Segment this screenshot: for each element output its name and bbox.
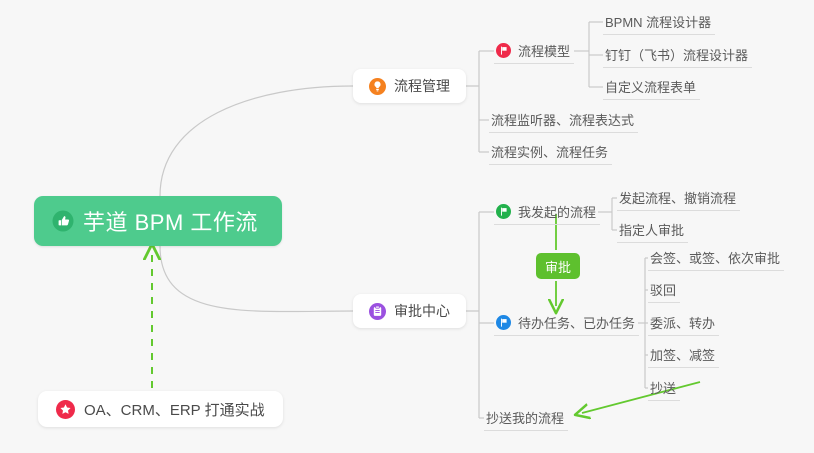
root-label: 芋道 BPM 工作流 (83, 205, 258, 237)
mindmap-canvas: 芋道 BPM 工作流 流程管理 审批中心 (0, 0, 814, 453)
node-label-countersign: 会签、或签、依次审批 (650, 248, 780, 267)
clipboard-icon (369, 303, 386, 320)
node-label-cc: 抄送 (650, 378, 676, 397)
node-custom-form[interactable]: 自定义流程表单 (603, 74, 700, 100)
node-process-model[interactable]: 流程模型 (494, 38, 574, 64)
node-label-add-remove-sign: 加签、减签 (650, 345, 715, 364)
node-label-process-model: 流程模型 (518, 41, 570, 60)
node-todo-done-task[interactable]: 待办任务、已办任务 (494, 310, 639, 336)
node-cc-my-process[interactable]: 抄送我的流程 (484, 405, 568, 431)
node-countersign[interactable]: 会签、或签、依次审批 (648, 245, 784, 271)
node-label-cc-my-process: 抄送我的流程 (486, 408, 564, 427)
thumbs-up-icon (52, 210, 74, 232)
link-root-to-approval-center (160, 246, 353, 312)
node-listener-expression[interactable]: 流程监听器、流程表达式 (489, 107, 638, 133)
star-icon (56, 400, 75, 419)
node-instance-task[interactable]: 流程实例、流程任务 (489, 139, 612, 165)
node-add-remove-sign[interactable]: 加签、减签 (648, 342, 719, 368)
flag-icon (496, 204, 511, 219)
node-dingtalk-designer[interactable]: 钉钉（飞书）流程设计器 (603, 42, 752, 68)
integration-note-label: OA、CRM、ERP 打通实战 (84, 399, 265, 420)
root-node[interactable]: 芋道 BPM 工作流 (34, 196, 282, 246)
node-label-bpmn-designer: BPMN 流程设计器 (605, 12, 711, 31)
flag-icon (496, 43, 511, 58)
branch-label-process-management: 流程管理 (394, 76, 450, 96)
node-label-instance-task: 流程实例、流程任务 (491, 142, 608, 161)
node-delegate-transfer[interactable]: 委派、转办 (648, 310, 719, 336)
node-label-delegate-transfer: 委派、转办 (650, 313, 715, 332)
node-label-custom-form: 自定义流程表单 (605, 77, 696, 96)
node-bpmn-designer[interactable]: BPMN 流程设计器 (603, 9, 715, 35)
approval-badge-label: 审批 (545, 257, 571, 276)
branch-node-approval-center[interactable]: 审批中心 (353, 294, 466, 328)
node-start-cancel[interactable]: 发起流程、撤销流程 (617, 185, 740, 211)
integration-note[interactable]: OA、CRM、ERP 打通实战 (38, 391, 283, 427)
lightbulb-icon (369, 78, 386, 95)
node-label-assignee-approval: 指定人审批 (619, 220, 684, 239)
branch-node-process-management[interactable]: 流程管理 (353, 69, 466, 103)
node-cc[interactable]: 抄送 (648, 375, 680, 401)
branch-label-approval-center: 审批中心 (394, 301, 450, 321)
flag-icon (496, 315, 511, 330)
node-assignee-approval[interactable]: 指定人审批 (617, 217, 688, 243)
approval-badge[interactable]: 审批 (536, 253, 580, 279)
node-label-reject: 驳回 (650, 280, 676, 299)
node-label-listener-expression: 流程监听器、流程表达式 (491, 110, 634, 129)
link-root-to-process-management (160, 86, 353, 196)
arrow-cc-to-cc-my-process (582, 382, 700, 413)
node-label-dingtalk-designer: 钉钉（飞书）流程设计器 (605, 45, 748, 64)
node-label-start-cancel: 发起流程、撤销流程 (619, 188, 736, 207)
node-my-started-process[interactable]: 我发起的流程 (494, 199, 600, 225)
node-label-todo-done-task: 待办任务、已办任务 (518, 313, 635, 332)
node-label-my-started-process: 我发起的流程 (518, 202, 596, 221)
node-reject[interactable]: 驳回 (648, 277, 680, 303)
